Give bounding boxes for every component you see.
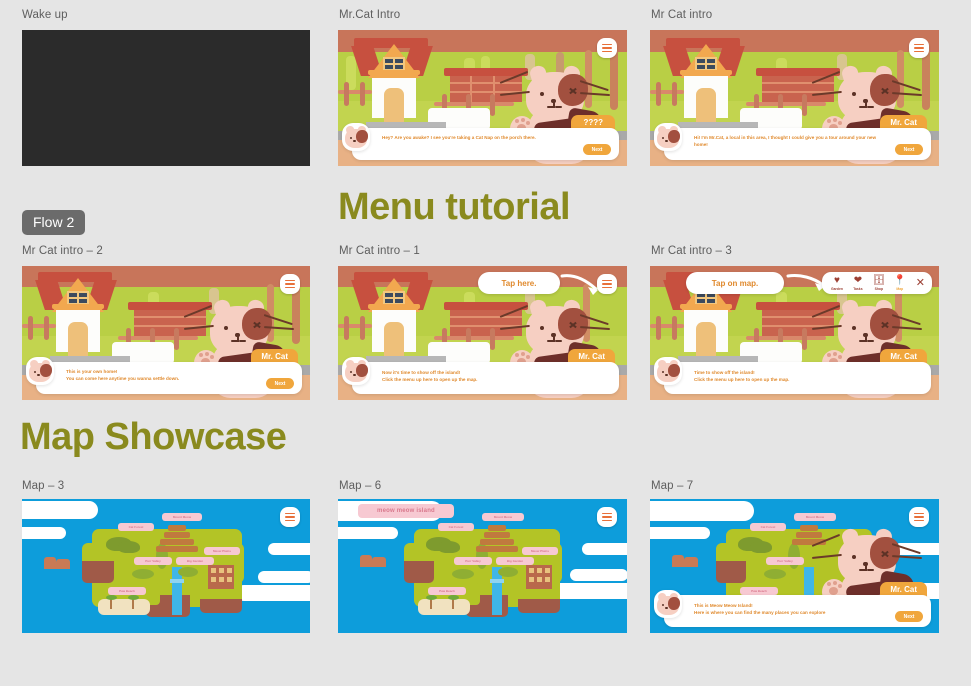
hamburger-icon[interactable] [909, 507, 929, 527]
palm-trunk [110, 599, 112, 609]
river-foam [490, 579, 504, 583]
cloud [570, 569, 627, 581]
cliff [82, 561, 114, 583]
palm-leaf [426, 595, 437, 600]
map-location-pin[interactable]: Cat Forest [750, 523, 786, 531]
avatar-eye [350, 371, 352, 373]
forest-patch [438, 541, 460, 553]
cat-toe [521, 352, 525, 356]
building-window [219, 577, 224, 582]
window-pane [395, 65, 403, 69]
palm-trunk [132, 599, 134, 609]
menu-item-label: Tasks [853, 287, 862, 291]
menu-item-garden[interactable]: ♥ Garden [829, 276, 845, 291]
map-location-label: Mount Meow [494, 515, 512, 519]
map-location-pin[interactable]: Mount Meow [482, 513, 524, 521]
next-button[interactable]: Next [895, 144, 923, 155]
fence-post [360, 316, 365, 340]
bush [498, 567, 518, 577]
cloud [550, 583, 627, 599]
game-scene: Tap on map. ♥ Garden ❤ Tasks 🗄 Shop [650, 266, 939, 400]
tooltip-tap-here: Tap here. [478, 272, 560, 294]
cat-mouth-right [867, 340, 874, 342]
building-window [219, 568, 224, 573]
house-eave-wide [680, 70, 732, 75]
cat-eye-left [852, 555, 856, 559]
cat-eye-left [224, 326, 228, 330]
fence-post [802, 328, 807, 350]
cat-mouth-left [231, 340, 238, 342]
cat-eye-left [852, 326, 856, 330]
map-location-label: Paw Beach [751, 589, 767, 593]
cat-toe [827, 353, 831, 357]
cat-toe [833, 581, 837, 585]
avatar-eye [34, 371, 36, 373]
flow-badge[interactable]: Flow 2 [22, 210, 85, 235]
menu-item-label: Map [896, 287, 903, 291]
map-location-label: Big Garden [187, 559, 203, 563]
house-eave-wide [680, 304, 732, 309]
window-pane [385, 59, 393, 63]
window-pane [69, 299, 77, 303]
cliff [716, 561, 746, 583]
cloud [650, 527, 710, 539]
window-pane [385, 65, 393, 69]
bush [788, 543, 800, 569]
frame-mr-cat-intro[interactable]: Mr. Cat Hi! I'm Mr.Cat, a local in this … [650, 30, 939, 166]
cat-mouth-left [547, 106, 554, 108]
window-pane [395, 59, 403, 63]
building-window [537, 577, 542, 582]
avatar-nose [353, 140, 356, 142]
beach-sand [418, 599, 470, 615]
window-pane [697, 299, 705, 303]
rock [372, 557, 386, 567]
frame-map-3[interactable]: Cat Forest Mount Meow Purr Valley Big Ga… [22, 499, 310, 633]
hamburger-icon[interactable] [909, 38, 929, 58]
building-window [529, 568, 534, 573]
avatar-nose [353, 374, 356, 376]
cloud [268, 543, 310, 555]
cat-whisker [812, 305, 841, 318]
frame-mrcat-intro[interactable]: ???? Hey? Are you awake? I see you're ta… [338, 30, 627, 166]
frame-label-mr-cat-intro-3: Mr Cat intro – 3 [651, 245, 732, 257]
hamburger-icon[interactable] [280, 507, 300, 527]
building-window [545, 577, 550, 582]
building-window [537, 568, 542, 573]
pagoda-tier [160, 539, 194, 545]
avatar [342, 123, 370, 151]
cliff [518, 599, 560, 613]
window-pane [385, 293, 393, 297]
frame-label-mr-cat-intro-2: Mr Cat intro – 2 [22, 245, 103, 257]
close-icon[interactable]: ✕ [916, 278, 925, 289]
hamburger-icon[interactable] [597, 38, 617, 58]
map-location-label: Purr Valley [777, 559, 793, 563]
cat-toe [833, 352, 837, 356]
cloud [22, 527, 66, 539]
cat-mouth-right [555, 340, 562, 342]
menu-item-map[interactable]: 📍 Map [892, 276, 908, 291]
pin-icon: 📍 [894, 276, 906, 286]
window-pane [707, 65, 715, 69]
map-scene: Cat Forest Mount Meow Purr Valley Big Ga… [22, 499, 310, 633]
dialogue-box[interactable]: Now it's time to show off the island! Cl… [352, 362, 619, 394]
map-location-pin[interactable]: Meow Plains [204, 547, 240, 555]
avatar [26, 357, 54, 385]
pagoda-tier [156, 546, 198, 552]
avatar [342, 357, 370, 385]
building-window [529, 577, 534, 582]
river-foam [170, 579, 184, 583]
cat-eye-left [540, 326, 544, 330]
avatar-nose [665, 607, 668, 609]
palm-trunk [430, 599, 432, 609]
beach-sand [98, 599, 150, 615]
hamburger-icon[interactable] [280, 274, 300, 294]
palm-leaf [128, 595, 139, 600]
map-location-label: Purr Valley [465, 559, 481, 563]
map-location-pin[interactable]: Purr Valley [454, 557, 492, 565]
cat-toe [838, 584, 842, 588]
menu-item-tasks[interactable]: ❤ Tasks [850, 276, 866, 291]
fence-post [344, 316, 349, 340]
rock [56, 559, 70, 569]
map-location-label: Purr Valley [145, 559, 161, 563]
tooltip-tap-on-map: Tap on map. [686, 272, 784, 294]
fence-post [656, 82, 661, 106]
cloud [338, 527, 398, 539]
cat-eye-left [852, 92, 856, 96]
dialogue-text: Now it's time to show off the island! Cl… [382, 370, 605, 383]
window-pane [697, 65, 705, 69]
cat-mouth-left [547, 340, 554, 342]
fence-post [44, 316, 49, 340]
next-button[interactable]: Next [895, 611, 923, 622]
cat-mouth-left [859, 106, 866, 108]
building-window [227, 568, 232, 573]
cat-toe [833, 118, 837, 122]
map-scene: Cat Forest Mount Meow Purr Valley Big Ga… [338, 499, 627, 633]
cat-mouth-left [859, 340, 866, 342]
next-button[interactable]: Next [583, 144, 611, 155]
bush [452, 569, 474, 579]
avatar-eye [350, 137, 352, 139]
map-location-pin[interactable]: Big Garden [496, 557, 534, 565]
dialogue-box[interactable]: Hi! I'm Mr.Cat, a local in this area, I … [664, 128, 931, 160]
dialogue-box[interactable]: Hey? Are you awake? I see you're taking … [352, 128, 619, 160]
map-location-label: Cat Forest [449, 525, 464, 529]
cat-toe [199, 353, 203, 357]
frame-label-map-7: Map – 7 [651, 480, 693, 492]
dialogue-box[interactable]: This is your own home! You can come here… [36, 362, 302, 394]
fence-post [344, 82, 349, 106]
rock [44, 557, 56, 569]
fence-post [174, 328, 179, 350]
map-location-pin[interactable]: Mount Meow [162, 513, 202, 521]
map-location-label: Mount Meow [173, 515, 191, 519]
avatar [654, 590, 682, 618]
avatar-patch [356, 130, 368, 143]
map-location-label: Mount Meow [806, 515, 824, 519]
map-location-pin[interactable]: Paw Beach [108, 587, 146, 595]
menu-bar[interactable]: ♥ Garden ❤ Tasks 🗄 Shop 📍 Map ✕ [822, 272, 932, 294]
dialogue-text: This is Meow Meow Island! Here is where … [694, 603, 885, 616]
cat-toe [526, 355, 530, 359]
bag-icon: 🗄 [872, 276, 885, 286]
map-location-pin[interactable]: Paw Beach [428, 587, 466, 595]
avatar-eye [662, 604, 664, 606]
house-eave-wide [52, 304, 104, 309]
hamburger-icon[interactable] [597, 274, 617, 294]
avatar-patch [356, 364, 368, 377]
rock [672, 555, 684, 567]
frame-mr-cat-intro-3[interactable]: Tap on map. ♥ Garden ❤ Tasks 🗄 Shop [650, 266, 939, 400]
building-window [545, 568, 550, 573]
map-location-pin[interactable]: Meow Plains [522, 547, 558, 555]
cat-whisker [812, 71, 841, 84]
cat-mouth-right [867, 569, 874, 571]
frame-label-map-3: Map – 3 [22, 480, 64, 492]
pagoda-tier [480, 539, 514, 545]
cat-toe [838, 121, 842, 125]
frame-mr-cat-intro-1[interactable]: Tap here. Mr. Cat Now it's time to show … [338, 266, 627, 400]
dialogue-text: Hi! I'm Mr.Cat, a local in this area, I … [694, 135, 885, 148]
avatar-nose [665, 374, 668, 376]
cat-toe [827, 582, 831, 586]
rock [360, 555, 372, 567]
frame-label-wake-up: Wake up [22, 9, 68, 21]
game-scene: Tap here. Mr. Cat Now it's time to show … [338, 266, 627, 400]
map-location-pin[interactable]: Cat Forest [438, 523, 474, 531]
palm-leaf [106, 595, 117, 600]
sprout-icon: ♥ [834, 276, 840, 286]
bush [132, 569, 154, 579]
cat-whisker [812, 534, 841, 547]
cloud [258, 571, 310, 583]
avatar-patch [668, 364, 680, 377]
cat-toe [827, 119, 831, 123]
heart-icon: ❤ [854, 276, 862, 286]
pagoda-tier [164, 532, 190, 538]
avatar-nose [665, 140, 668, 142]
cat-toe [515, 119, 519, 123]
cat-toe [838, 355, 842, 359]
fence-post [28, 316, 33, 340]
menu-item-label: Garden [831, 287, 843, 291]
map-location-pin[interactable]: Mount Meow [794, 513, 836, 521]
avatar [654, 357, 682, 385]
window-pane [395, 299, 403, 303]
dialogue-text: Hey? Are you awake? I see you're taking … [382, 135, 573, 142]
fence-post [656, 316, 661, 340]
map-location-label: Meow Plains [531, 549, 549, 553]
map-location-pin[interactable]: Cat Forest [118, 523, 154, 531]
cat-toe [515, 353, 519, 357]
cat-whisker [500, 305, 529, 318]
window-pane [385, 299, 393, 303]
fence-post [490, 94, 495, 116]
hamburger-icon[interactable] [597, 507, 617, 527]
cat-mouth-right [555, 106, 562, 108]
frame-label-mrcat-intro: Mr.Cat Intro [339, 9, 400, 21]
cliff [200, 599, 242, 613]
avatar-patch [668, 597, 680, 610]
cat-paw-pad [829, 587, 838, 595]
game-scene: Mr. Cat This is your own home! You can c… [22, 266, 310, 400]
map-location-pin[interactable]: Purr Valley [766, 557, 804, 565]
palm-leaf [448, 595, 459, 600]
cliff [404, 561, 434, 583]
fence-post [672, 316, 677, 340]
map-location-label: Cat Forest [129, 525, 144, 529]
dialogue-text: This is your own home! You can come here… [66, 369, 256, 382]
section-heading-map-showcase: Map Showcase [20, 416, 286, 459]
avatar-eye [662, 137, 664, 139]
building-window [211, 568, 216, 573]
cat-whisker [184, 305, 213, 318]
avatar-nose [37, 374, 40, 376]
window-pane [707, 299, 715, 303]
cat-toe [521, 118, 525, 122]
pagoda-tier [168, 525, 186, 531]
frame-mr-cat-intro-2[interactable]: Mr. Cat This is your own home! You can c… [22, 266, 310, 400]
cloud [236, 585, 310, 601]
map-location-label: Meow Plains [213, 549, 231, 553]
window-pane [69, 293, 77, 297]
cloud [650, 501, 754, 521]
map-location-pin[interactable]: Big Garden [176, 557, 214, 565]
frame-label-map-6: Map – 6 [339, 480, 381, 492]
cat-eye-left [540, 92, 544, 96]
window-pane [697, 59, 705, 63]
map-location-label: Paw Beach [439, 589, 455, 593]
pagoda-tier [488, 525, 506, 531]
fence-post [360, 82, 365, 106]
frame-label-mr-cat-intro: Mr Cat intro [651, 9, 712, 21]
arrow-icon [560, 272, 602, 298]
palm-trunk [452, 599, 454, 609]
building-window [211, 577, 216, 582]
cloud [22, 501, 98, 519]
cat-whisker [500, 71, 529, 84]
avatar-patch [668, 130, 680, 143]
cat-toe [205, 352, 209, 356]
house-eave-wide [368, 70, 420, 75]
cloud [582, 543, 627, 555]
bush [178, 567, 198, 577]
frame-wake-up[interactable] [22, 30, 310, 166]
window-pane [79, 299, 87, 303]
dialogue-box[interactable]: Time to show off the island! Click the m… [664, 362, 931, 394]
artboard-canvas: Wake up Mr.Cat Intro Mr Cat intro [0, 0, 971, 686]
menu-item-label: Shop [875, 287, 883, 291]
map-location-pin[interactable]: Purr Valley [134, 557, 172, 565]
fence-post [802, 94, 807, 116]
forest-patch [118, 541, 140, 553]
bush [764, 569, 786, 579]
dialogue-text: Time to show off the island! Click the m… [694, 370, 917, 383]
building-window [227, 577, 232, 582]
map-title-label: meow meow island [358, 504, 454, 518]
frame-label-mr-cat-intro-1: Mr Cat intro – 1 [339, 245, 420, 257]
fence-post [490, 328, 495, 350]
map-location-label: Cat Forest [761, 525, 776, 529]
next-button[interactable]: Next [266, 378, 294, 389]
frame-map-7[interactable]: Cat Forest Mount Meow Purr Valley Paw Be… [650, 499, 939, 633]
game-scene: ???? Hey? Are you awake? I see you're ta… [338, 30, 627, 166]
map-location-pin[interactable]: Paw Beach [740, 587, 778, 595]
game-scene: Mr. Cat Hi! I'm Mr.Cat, a local in this … [650, 30, 939, 166]
map-scene: Cat Forest Mount Meow Purr Valley Paw Be… [650, 499, 939, 633]
cat-mouth-left [859, 569, 866, 571]
map-location-label: Paw Beach [119, 589, 135, 593]
map-location-label: Big Garden [507, 559, 523, 563]
cat-mouth-right [239, 340, 246, 342]
forest-patch [750, 541, 772, 553]
fence-post [672, 82, 677, 106]
window-pane [395, 293, 403, 297]
avatar [654, 123, 682, 151]
pagoda-tier [484, 532, 510, 538]
house-eave-wide [368, 304, 420, 309]
dialogue-box[interactable]: This is Meow Meow Island! Here is where … [664, 595, 931, 627]
window-pane [79, 293, 87, 297]
window-pane [707, 59, 715, 63]
cat-mouth-right [867, 106, 874, 108]
cat-toe [526, 121, 530, 125]
avatar-patch [40, 364, 52, 377]
pagoda-tier [476, 546, 518, 552]
frame-map-6[interactable]: Cat Forest Mount Meow Purr Valley Big Ga… [338, 499, 627, 633]
menu-item-shop[interactable]: 🗄 Shop [871, 276, 887, 291]
cat-toe [210, 355, 214, 359]
section-heading-menu-tutorial: Menu tutorial [338, 186, 570, 229]
avatar-eye [662, 371, 664, 373]
rock [684, 557, 698, 567]
